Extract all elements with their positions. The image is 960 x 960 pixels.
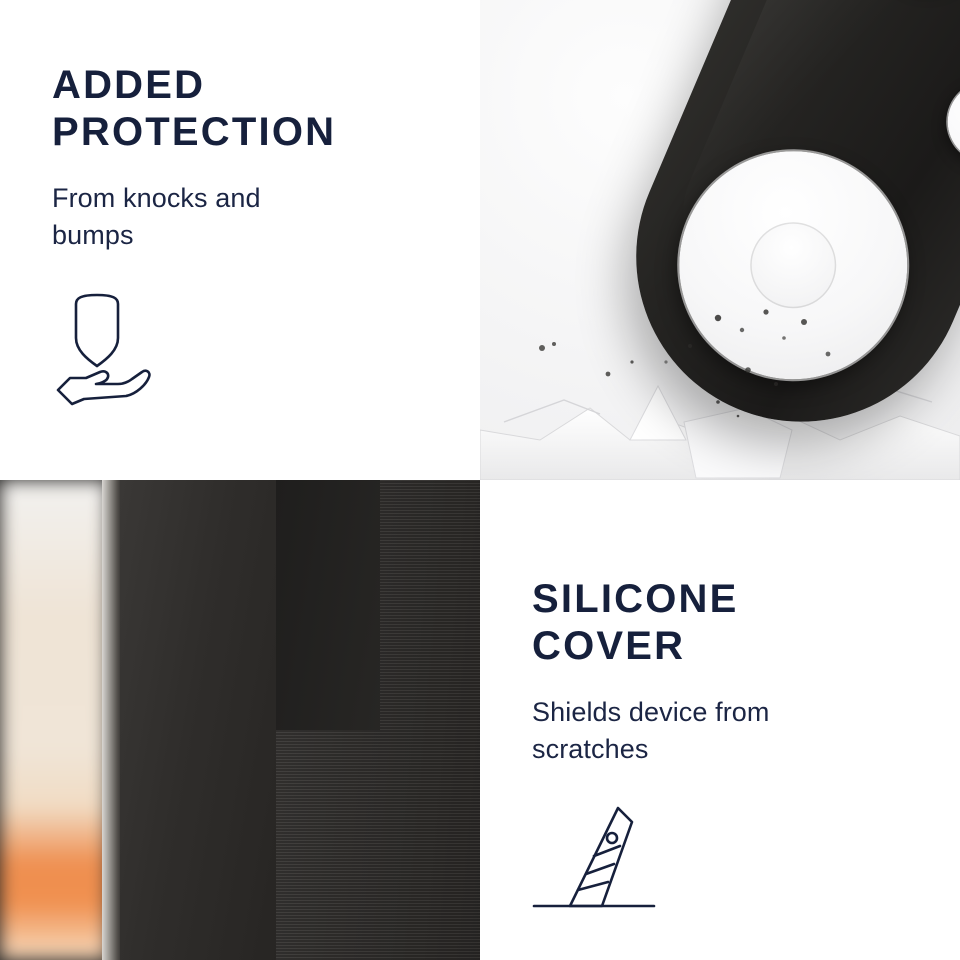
craft-knife-icon [526,798,666,923]
shield-in-hand-icon [52,286,172,411]
added-protection-headline: ADDED PROTECTION [52,62,452,156]
added-protection-text-block: ADDED PROTECTION From knocks and bumps [52,62,452,253]
tv-port-recess [276,480,380,730]
photo-remote-drop [480,0,960,480]
panel-added-protection: ADDED PROTECTION From knocks and bumps [0,0,480,480]
feature-infographic: ADDED PROTECTION From knocks and bumps [0,0,960,960]
tv-bezel-edge [102,480,122,960]
silicone-cover-headline: SILICONE COVER [532,576,932,670]
silicone-cover-subline: Shields device from scratches [532,694,932,767]
tv-rear-scene: USB HDMI G [0,480,480,960]
photo-tv-mount: USB HDMI G [0,480,480,960]
panel-silicone-cover: SILICONE COVER Shields device from scrat… [480,480,960,960]
down-arrow-button[interactable] [935,69,960,174]
blurred-room-background [0,480,108,960]
tv-rear-panel [120,480,280,960]
silicone-cover-text-block: SILICONE COVER Shields device from scrat… [532,576,932,767]
added-protection-subline: From knocks and bumps [52,180,452,253]
